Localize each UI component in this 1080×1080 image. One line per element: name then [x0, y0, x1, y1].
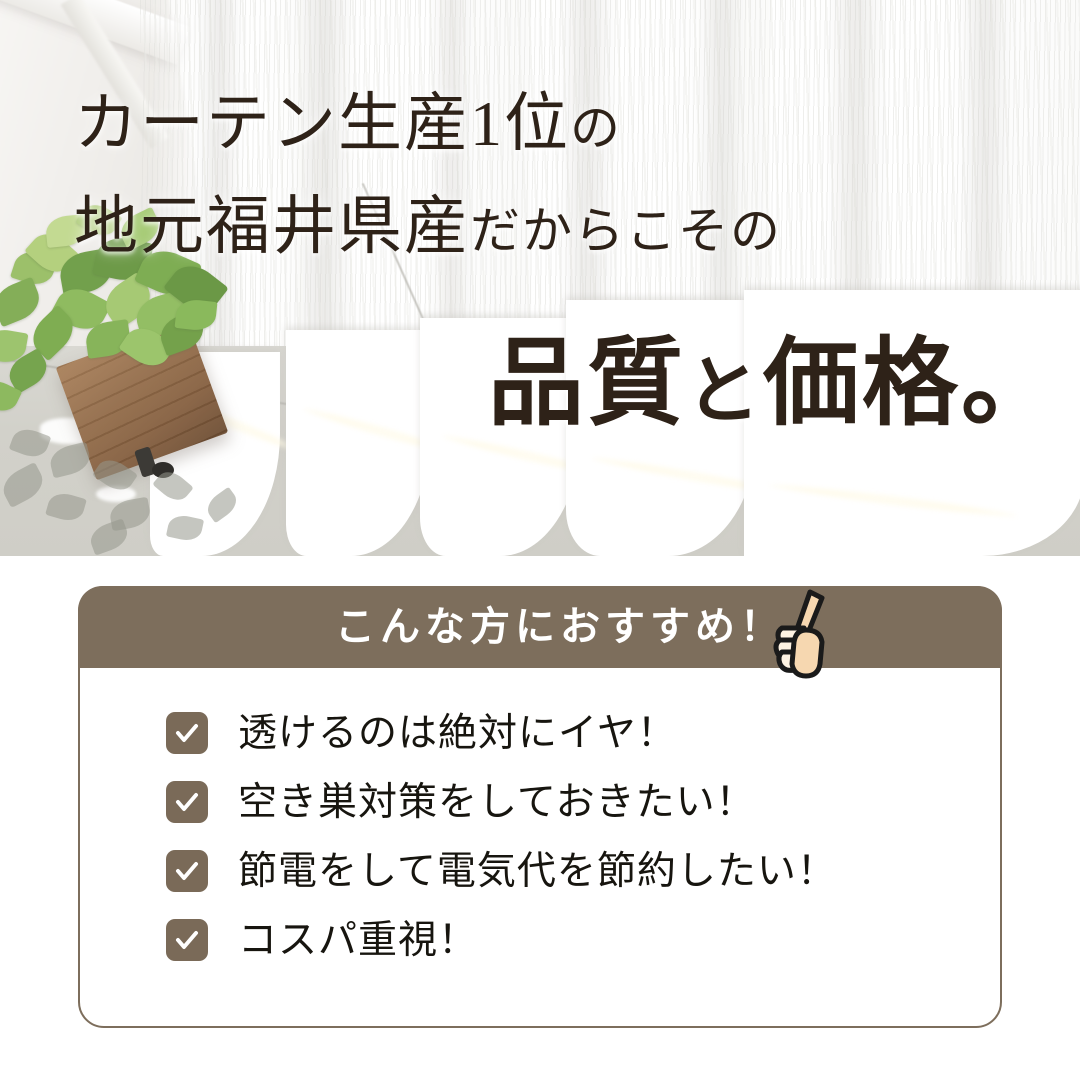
- list-item-label: コスパ重視！: [238, 921, 478, 960]
- curtain-hem: [744, 290, 1080, 556]
- recommendation-card: こんな方におすすめ！ 透けるのは絶対にイヤ！: [78, 586, 1002, 1028]
- list-item-label: 節電をして電気代を節約したい！: [238, 852, 837, 891]
- hero-photo: カーテン生産1位の 地元福井県産だからこその 品質と価格。: [0, 0, 1080, 556]
- card-body: 透けるのは絶対にイヤ！ 空き巣対策をしておきたい！ 節電をして電気代を節約したい…: [80, 670, 1000, 1026]
- list-item-label: 空き巣対策をしておきたい！: [238, 783, 756, 822]
- list-item[interactable]: 透けるのは絶対にイヤ！: [166, 712, 1000, 754]
- card-header: こんな方におすすめ！: [78, 586, 1002, 668]
- pointing-up-hand-icon: [766, 582, 846, 682]
- list-item[interactable]: 空き巣対策をしておきたい！: [166, 781, 1000, 823]
- list-item[interactable]: 節電をして電気代を節約したい！: [166, 850, 1000, 892]
- list-item[interactable]: コスパ重視！: [166, 919, 1000, 961]
- list-item-label: 透けるのは絶対にイヤ！: [238, 714, 677, 753]
- checkbox-checked-icon[interactable]: [166, 919, 208, 961]
- checkbox-checked-icon[interactable]: [166, 781, 208, 823]
- curtain-hem: [566, 300, 756, 556]
- card-header-title: こんな方におすすめ！: [295, 607, 785, 647]
- checkbox-checked-icon[interactable]: [166, 850, 208, 892]
- checkbox-checked-icon[interactable]: [166, 712, 208, 754]
